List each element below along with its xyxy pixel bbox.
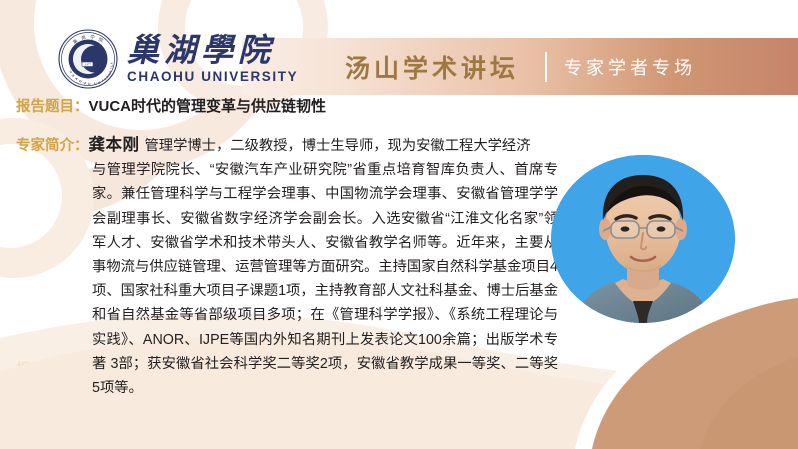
wave-decoration-front — [0, 0, 798, 449]
seminar-poster: 汤山学术讲坛 专家学者专场 1977 巢 湖 学 院 — [0, 0, 798, 449]
